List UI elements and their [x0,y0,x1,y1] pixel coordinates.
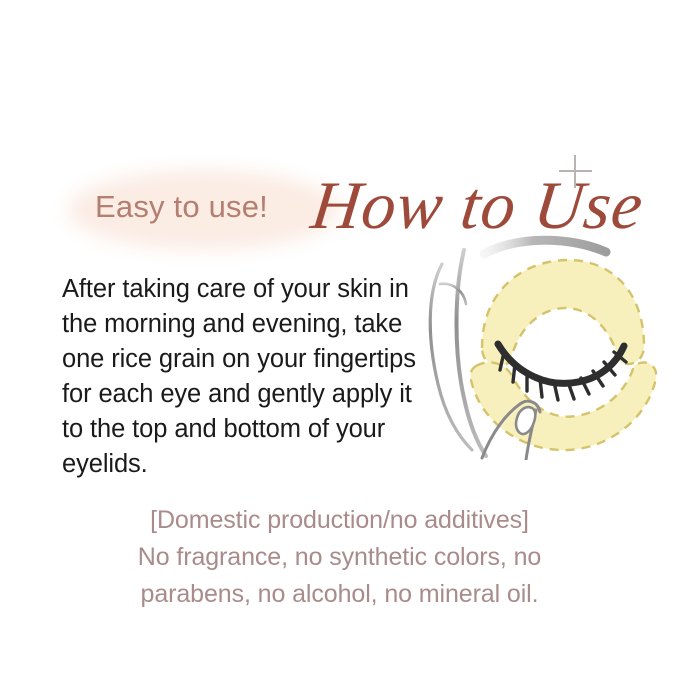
eye-application-diagram [420,222,670,460]
cross-sparkle-icon [559,155,592,188]
lower-application-zone [471,362,657,450]
instructions-text: After taking care of your skin in the mo… [62,272,432,482]
footer-notes: [Domestic production/no additives] No fr… [0,502,679,613]
footer-note-line: parabens, no alcohol, no mineral oil. [0,576,679,613]
face-contour-lines [430,250,486,456]
footer-note-line: No fragrance, no synthetic colors, no [0,539,679,576]
promo-card: Easy to use! How to Use After taking car… [0,0,679,679]
eyebrow-shape [484,240,606,254]
header-eyebrow-text: Easy to use! [95,189,268,225]
header: Easy to use! How to Use [0,78,679,188]
footer-note-line: [Domestic production/no additives] [0,502,679,539]
